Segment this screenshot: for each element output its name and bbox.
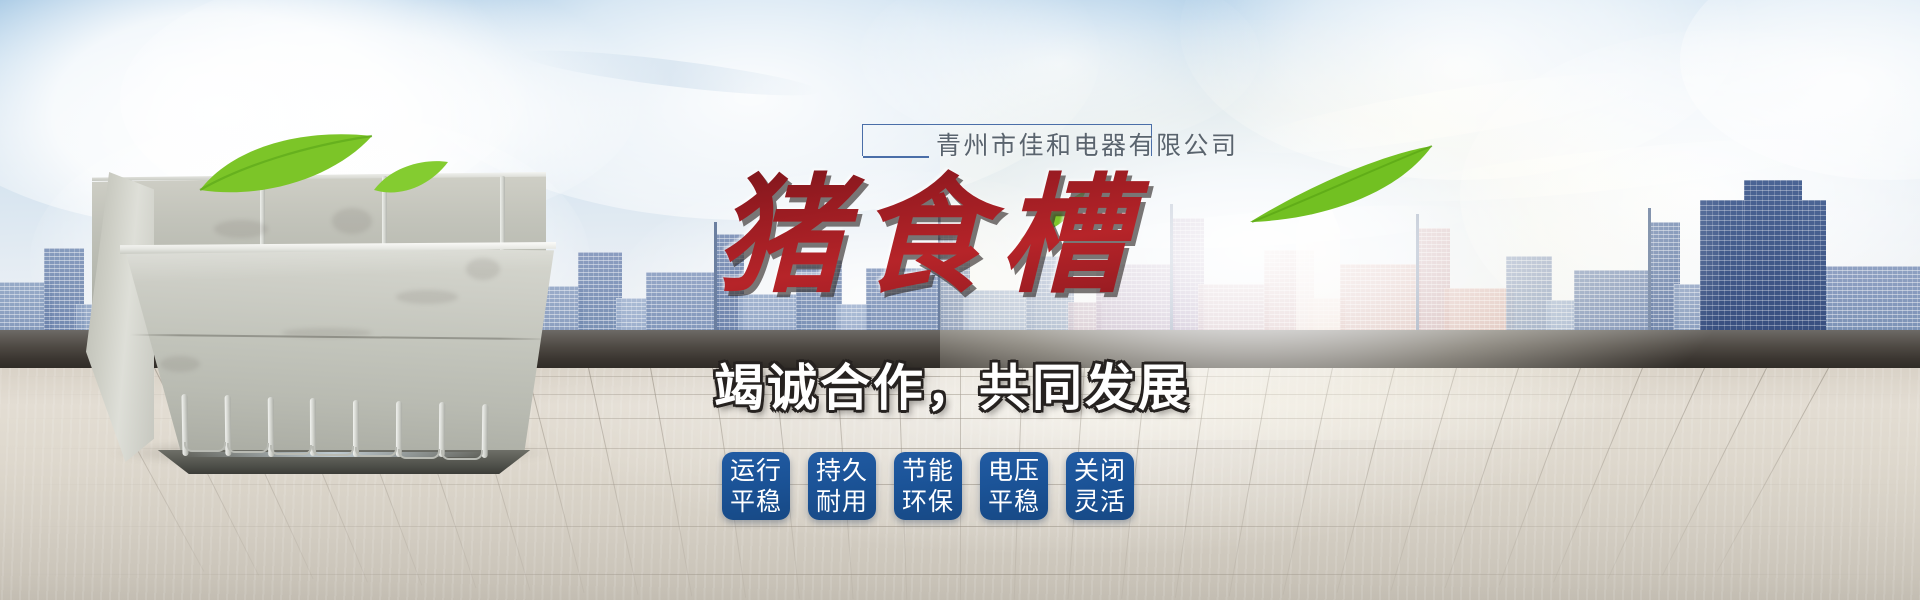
promo-banner: 青州市佳和电器有限公司 猪食槽 竭诚合作，共同发展 运行平稳持久耐用节能环保电压…: [0, 0, 1920, 600]
slogan: 竭诚合作，共同发展: [714, 348, 1191, 420]
badge-flexible-closing[interactable]: 关闭灵活: [1066, 452, 1134, 520]
surface-mark: [282, 328, 372, 338]
trough-feed-bar-loop: [312, 446, 354, 456]
badge-line-2: 平稳: [988, 486, 1040, 517]
surface-mark: [214, 220, 268, 238]
trough-feed-bar-loop: [270, 445, 312, 455]
badge-line-1: 关闭: [1074, 455, 1126, 486]
trough-feed-bar-loop: [227, 443, 269, 453]
badge-line-2: 环保: [902, 486, 954, 517]
trough-feed-bar-loop: [441, 450, 483, 460]
trough-feed-bar-loop: [398, 449, 440, 459]
badge-durable[interactable]: 持久耐用: [808, 452, 876, 520]
badge-energy-saving[interactable]: 节能环保: [894, 452, 962, 520]
surface-mark: [396, 290, 458, 304]
badge-line-1: 持久: [816, 455, 868, 486]
badge-line-2: 灵活: [1074, 486, 1126, 517]
badge-line-2: 耐用: [816, 486, 868, 517]
page-title: 猪食槽: [716, 166, 1276, 306]
feature-badge-list: 运行平稳持久耐用节能环保电压平稳关闭灵活: [722, 452, 1134, 520]
badge-line-1: 运行: [730, 455, 782, 486]
surface-mark: [160, 356, 200, 372]
surface-mark: [332, 208, 372, 234]
badge-stable-voltage[interactable]: 电压平稳: [980, 452, 1048, 520]
badge-line-1: 节能: [902, 455, 954, 486]
company-name: 青州市佳和电器有限公司: [936, 126, 1239, 162]
badge-stable-operation[interactable]: 运行平稳: [722, 452, 790, 520]
badge-line-1: 电压: [988, 455, 1040, 486]
product-image-pig-feeding-trough: [64, 150, 584, 470]
surface-mark: [466, 258, 500, 280]
badge-line-2: 平稳: [730, 486, 782, 517]
trough-feed-bar-loop: [355, 447, 397, 457]
trough-feed-bar-loop: [184, 442, 226, 452]
